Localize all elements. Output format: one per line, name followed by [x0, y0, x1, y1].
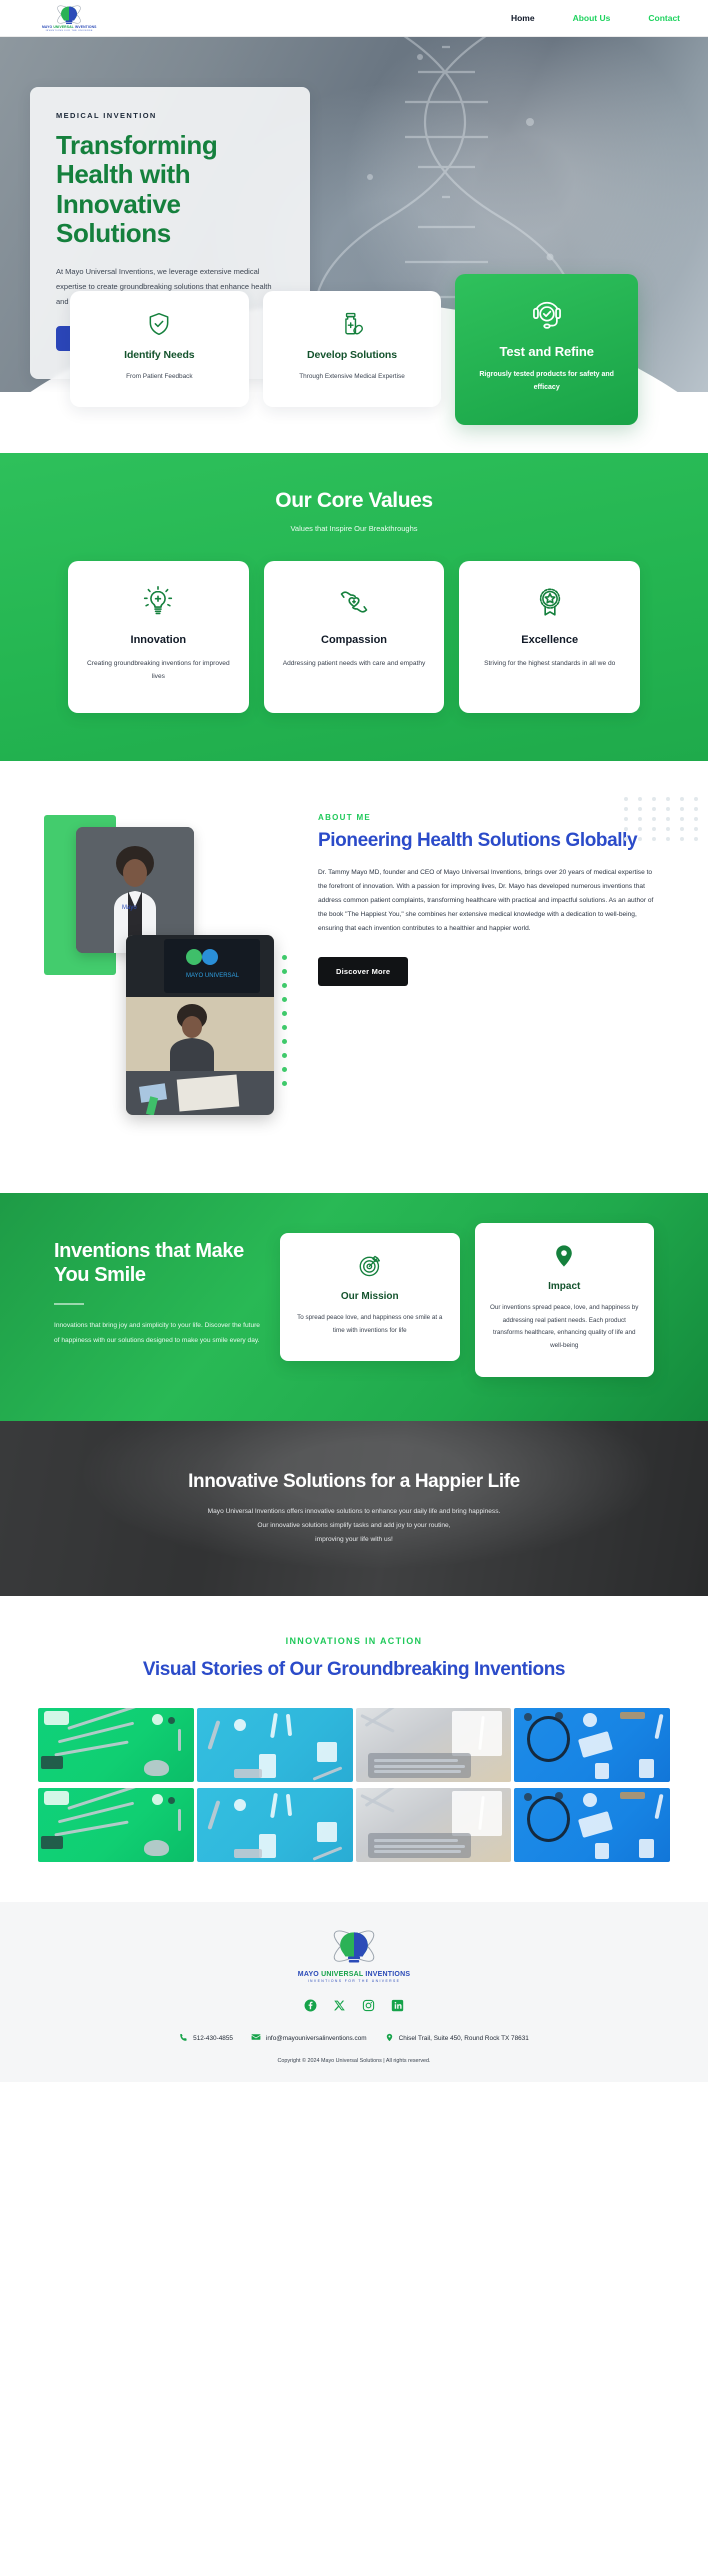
footer-address-text: Chisel Trail, Suite 450, Round Rock TX 7…: [399, 2035, 529, 2042]
core-values-section: Our Core Values Values that Inspire Our …: [0, 453, 708, 761]
core-values-grid: Innovation Creating groundbreaking inven…: [0, 561, 708, 713]
step-card-develop-solutions[interactable]: Develop Solutions Through Extensive Medi…: [263, 291, 442, 407]
value-title: Excellence: [472, 634, 627, 646]
step-title: Develop Solutions: [277, 349, 428, 361]
value-card-innovation[interactable]: Innovation Creating groundbreaking inven…: [68, 561, 249, 713]
site-logo[interactable]: MAYO UNIVERSAL INVENTIONS INVENTIONS FOR…: [42, 4, 97, 32]
facebook-icon[interactable]: [304, 1999, 317, 2012]
happier-content: Innovative Solutions for a Happier Life …: [188, 1470, 520, 1547]
smile-divider: [54, 1303, 84, 1305]
footer-copyright: Copyright © 2024 Mayo Universal Solution…: [0, 2058, 708, 2064]
value-text: Creating groundbreaking inventions for i…: [81, 657, 236, 683]
smile-title: Inventions that Make You Smile: [54, 1239, 264, 1287]
site-footer: MAYO UNIVERSAL INVENTIONS INVENTIONS FOR…: [0, 1902, 708, 2082]
gallery-row-1: [0, 1708, 708, 1782]
x-twitter-icon[interactable]: [333, 1999, 346, 2012]
step-text: Rigrously tested products for safety and…: [471, 369, 622, 395]
smile-cards: Our Mission To spread peace love, and ha…: [280, 1233, 654, 1376]
step-text: From Patient Feedback: [84, 371, 235, 383]
footer-address[interactable]: Chisel Trail, Suite 450, Round Rock TX 7…: [385, 2033, 529, 2044]
happier-line-1: Mayo Universal Inventions offers innovat…: [188, 1505, 520, 1519]
about-discover-more-button[interactable]: Discover More: [318, 957, 408, 986]
gallery-image-stethoscope-kit-blue[interactable]: [514, 1708, 670, 1782]
gallery-image-dental-tools-tray[interactable]: [356, 1788, 512, 1862]
smile-card-our-mission[interactable]: Our Mission To spread peace love, and ha…: [280, 1233, 460, 1361]
envelope-icon: [251, 2032, 261, 2044]
main-navigation: Home About Us Contact: [511, 13, 680, 23]
gallery-image-medical-supplies-blue[interactable]: [197, 1788, 353, 1862]
hero-title: Transforming Health with Innovative Solu…: [56, 131, 284, 249]
about-title: Pioneering Health Solutions Globally: [318, 830, 662, 852]
footer-email[interactable]: info@mayouniversalinventions.com: [251, 2032, 367, 2044]
gallery-eyebrow: INNOVATIONS IN ACTION: [0, 1636, 708, 1646]
footer-logo-mark-icon: [328, 1928, 380, 1971]
nav-item-about-us[interactable]: About Us: [573, 13, 611, 23]
shield-check-icon: [84, 311, 235, 337]
value-card-compassion[interactable]: Compassion Addressing patient needs with…: [264, 561, 445, 713]
gallery-image-medical-supplies-blue[interactable]: [197, 1708, 353, 1782]
footer-phone-text: 512-430-4855: [193, 2035, 233, 2042]
about-paragraph: Dr. Tammy Mayo MD, founder and CEO of Ma…: [318, 866, 662, 937]
smile-card-text: Our inventions spread peace, love, and h…: [488, 1302, 642, 1352]
step-title: Test and Refine: [471, 344, 622, 359]
footer-logo[interactable]: MAYO UNIVERSAL INVENTIONS INVENTIONS FOR…: [0, 1928, 708, 1983]
about-media-collage: Mayo MAYO UNIVERSAL: [0, 803, 310, 1123]
footer-email-text: info@mayouniversalinventions.com: [266, 2035, 367, 2042]
medicine-bottle-icon: [277, 311, 428, 337]
gallery-section: INNOVATIONS IN ACTION Visual Stories of …: [0, 1596, 708, 1903]
core-values-subtitle: Values that Inspire Our Breakthroughs: [0, 524, 708, 533]
step-title: Identify Needs: [84, 349, 235, 361]
step-card-test-and-refine[interactable]: Test and Refine Rigrously tested product…: [455, 274, 638, 425]
headset-check-icon: [471, 300, 622, 332]
inventions-smile-section: Inventions that Make You Smile Innovatio…: [0, 1193, 708, 1420]
hero-eyebrow: MEDICAL INVENTION: [56, 111, 284, 120]
gallery-image-stethoscope-kit-blue[interactable]: [514, 1788, 670, 1862]
svg-text:MAYO UNIVERSAL: MAYO UNIVERSAL: [186, 973, 240, 979]
award-star-icon: [472, 585, 627, 619]
nav-item-home[interactable]: Home: [511, 13, 535, 23]
about-section: Mayo MAYO UNIVERSAL: [0, 761, 708, 1193]
footer-logo-wordmark: MAYO UNIVERSAL INVENTIONS: [298, 1971, 410, 1978]
about-content: ABOUT ME Pioneering Health Solutions Glo…: [310, 803, 708, 1123]
gallery-row-2: [0, 1788, 708, 1862]
core-values-title: Our Core Values: [0, 489, 708, 513]
smile-card-impact[interactable]: Impact Our inventions spread peace, love…: [475, 1223, 655, 1376]
target-arrow-icon: [293, 1253, 447, 1279]
happier-title: Innovative Solutions for a Happier Life: [188, 1470, 520, 1493]
value-card-excellence[interactable]: Excellence Striving for the highest stan…: [459, 561, 640, 713]
step-card-identify-needs[interactable]: Identify Needs From Patient Feedback: [70, 291, 249, 407]
location-pin-icon: [385, 2033, 394, 2044]
value-text: Addressing patient needs with care and e…: [277, 657, 432, 670]
social-links: [0, 1999, 708, 2012]
smile-card-text: To spread peace love, and happiness one …: [293, 1312, 447, 1337]
gallery-image-surgical-tools-green[interactable]: [38, 1788, 194, 1862]
location-pin-icon: [488, 1243, 642, 1269]
gallery-image-surgical-tools-green[interactable]: [38, 1708, 194, 1782]
lightbulb-plus-icon: [81, 585, 236, 619]
linkedin-icon[interactable]: [391, 1999, 404, 2012]
smile-paragraph: Innovations that bring joy and simplicit…: [54, 1319, 264, 1348]
nav-item-contact[interactable]: Contact: [648, 13, 680, 23]
gallery-image-dental-tools-tray[interactable]: [356, 1708, 512, 1782]
gallery-title: Visual Stories of Our Groundbreaking Inv…: [0, 1658, 708, 1683]
value-text: Striving for the highest standards in al…: [472, 657, 627, 670]
process-steps-section: Identify Needs From Patient Feedback Dev…: [0, 274, 708, 453]
happier-line-2: Our innovative solutions simplify tasks …: [188, 1519, 520, 1533]
happier-line-3: improving your life with us!: [188, 1533, 520, 1547]
logo-mark-icon: [54, 4, 84, 26]
dot-grid-decoration: [624, 797, 702, 841]
hands-heart-icon: [277, 585, 432, 619]
step-text: Through Extensive Medical Expertise: [277, 371, 428, 383]
footer-phone[interactable]: 512-430-4855: [179, 2033, 233, 2044]
about-eyebrow: ABOUT ME: [318, 813, 662, 822]
instagram-icon[interactable]: [362, 1999, 375, 2012]
workspace-photo-inventor: MAYO UNIVERSAL: [126, 935, 274, 1115]
logo-tagline: INVENTIONS FOR THE UNIVERSE: [46, 30, 93, 32]
smile-intro: Inventions that Make You Smile Innovatio…: [54, 1233, 264, 1348]
value-title: Innovation: [81, 634, 236, 646]
value-title: Compassion: [277, 634, 432, 646]
smile-card-title: Our Mission: [293, 1291, 447, 1302]
smile-card-title: Impact: [488, 1281, 642, 1292]
dot-accent-column: [282, 955, 287, 1095]
site-header: MAYO UNIVERSAL INVENTIONS INVENTIONS FOR…: [0, 0, 708, 37]
svg-text:Mayo: Mayo: [122, 905, 137, 911]
happier-life-section: Innovative Solutions for a Happier Life …: [0, 1421, 708, 1596]
phone-icon: [179, 2033, 188, 2044]
footer-logo-tagline: INVENTIONS FOR THE UNIVERSE: [308, 1979, 401, 1983]
footer-contact-row: 512-430-4855 info@mayouniversalinvention…: [0, 2032, 708, 2044]
